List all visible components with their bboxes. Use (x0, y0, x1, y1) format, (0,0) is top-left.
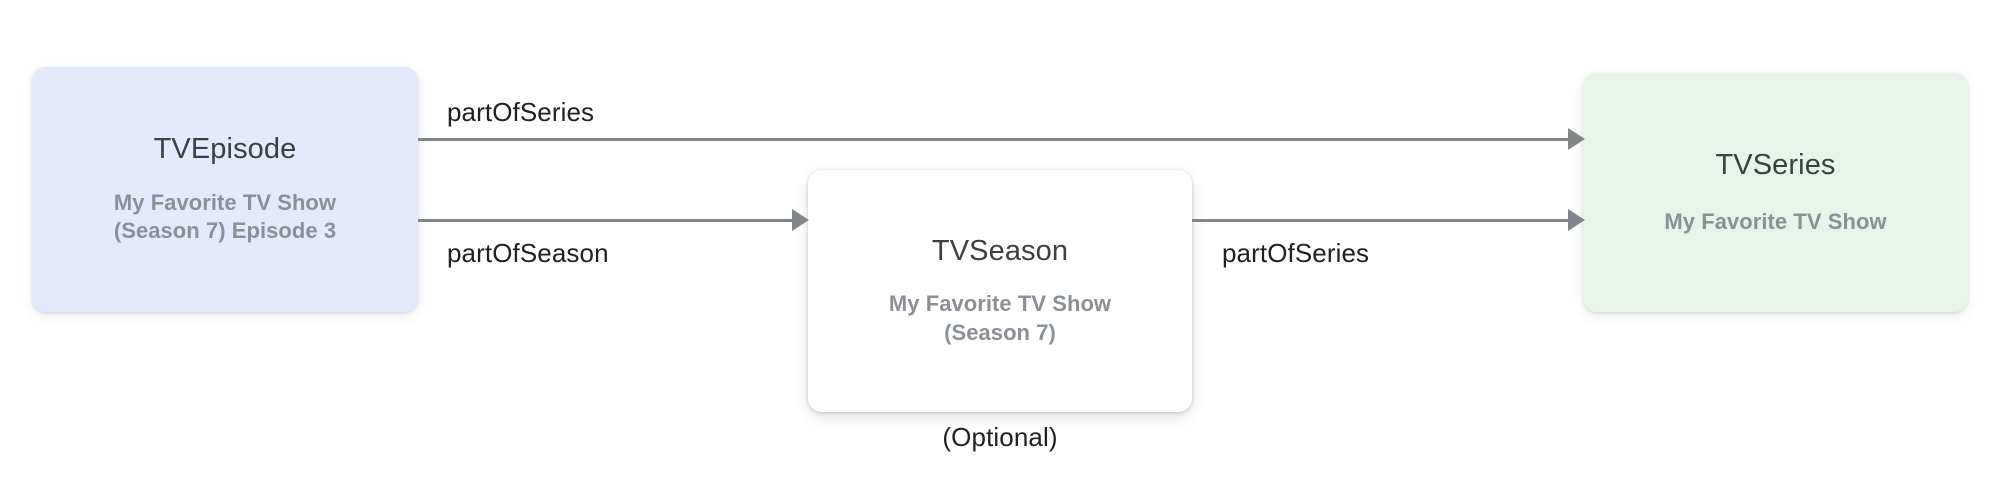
arrowhead-icon-episode-to-series (1568, 128, 1585, 150)
node-tvseason[interactable]: TVSeason My Favorite TV Show (Season 7) (808, 170, 1192, 412)
node-tvseries-subtitle: My Favorite TV Show (1664, 208, 1886, 237)
node-tvseries[interactable]: TVSeries My Favorite TV Show (1583, 73, 1968, 312)
edge-label-part-of-season: partOfSeason (447, 240, 609, 266)
node-tvseason-subtitle: My Favorite TV Show (Season 7) (889, 290, 1111, 347)
node-tvseason-title: TVSeason (932, 235, 1068, 268)
diagram-canvas: TVEpisode My Favorite TV Show (Season 7)… (0, 0, 2000, 495)
node-tvepisode-title: TVEpisode (154, 133, 297, 166)
arrowhead-icon-season-to-series (1568, 209, 1585, 231)
edge-label-part-of-series-top: partOfSeries (447, 99, 594, 125)
edge-episode-to-season-line (418, 219, 794, 222)
arrowhead-icon-episode-to-season (792, 209, 809, 231)
edge-label-part-of-series-bottom: partOfSeries (1222, 240, 1369, 266)
node-tvepisode[interactable]: TVEpisode My Favorite TV Show (Season 7)… (32, 67, 418, 312)
edge-season-to-series-line (1192, 219, 1570, 222)
node-tvseason-optional-caption: (Optional) (808, 424, 1192, 450)
node-tvepisode-subtitle: My Favorite TV Show (Season 7) Episode 3 (114, 189, 336, 246)
edge-episode-to-series-line (418, 138, 1570, 141)
node-tvseries-title: TVSeries (1715, 149, 1835, 182)
